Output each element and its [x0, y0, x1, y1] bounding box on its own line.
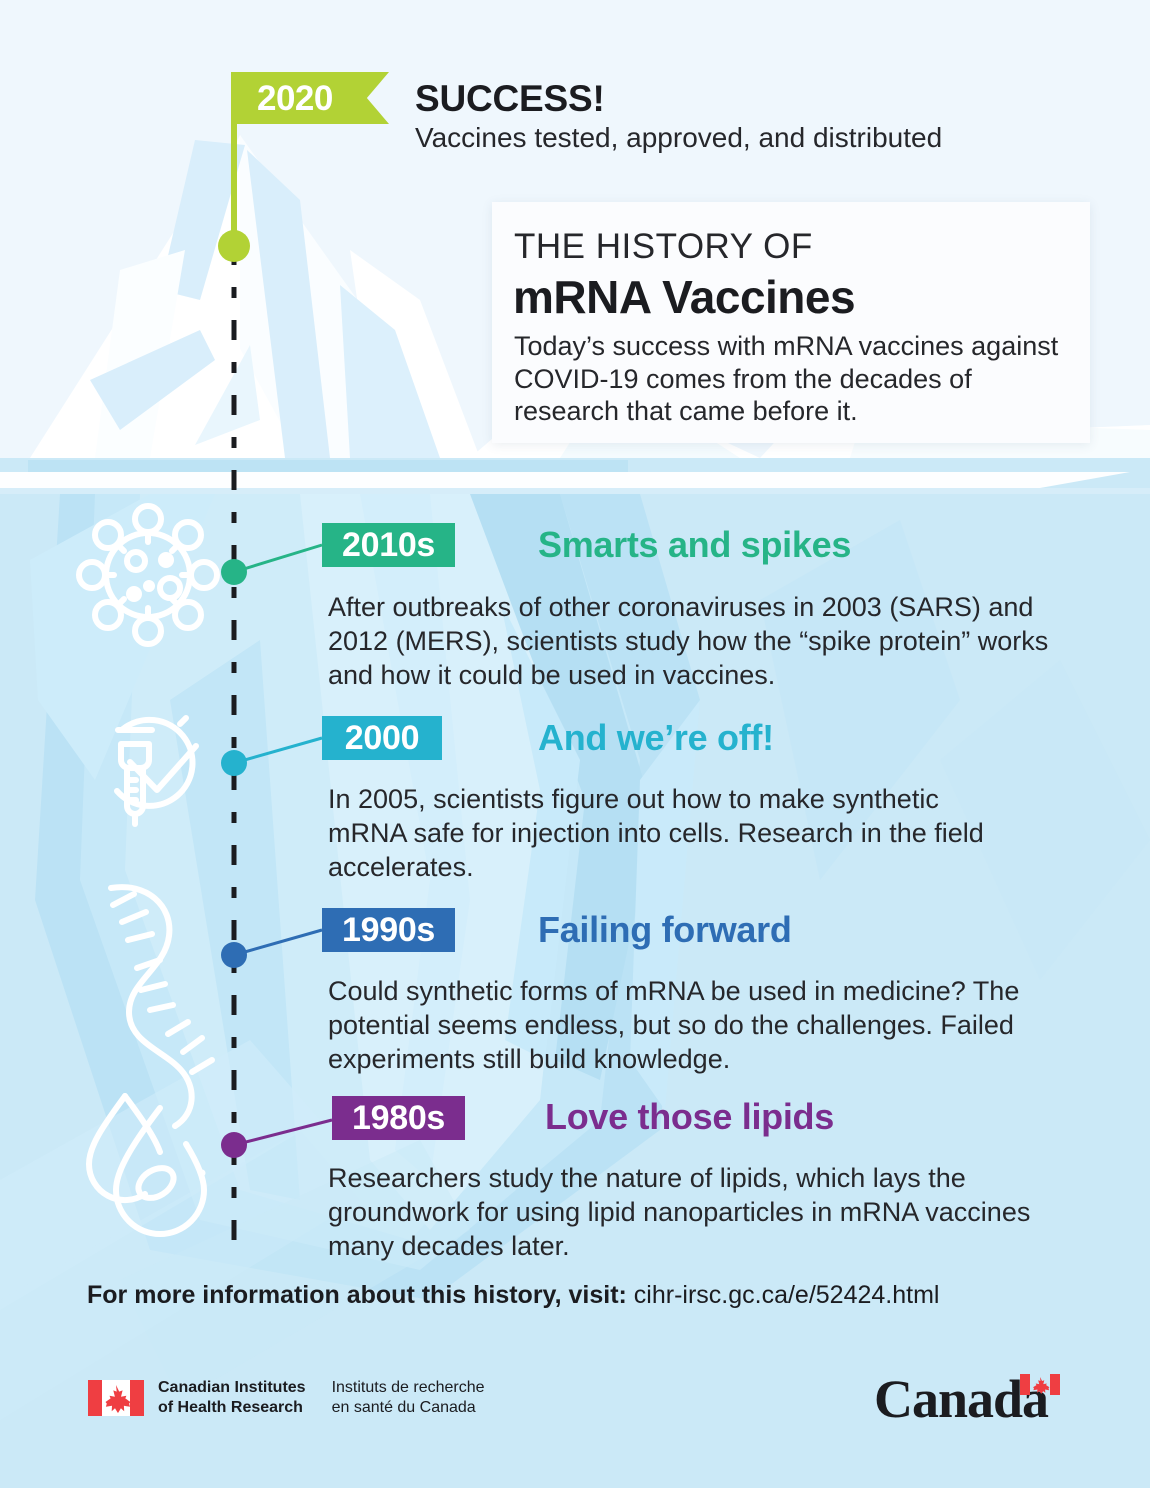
cihr-label-en: Canadian Institutes of Health Research: [158, 1378, 306, 1417]
entry-title-1980s: Love those lipids: [545, 1099, 834, 1135]
timeline-node-2010s[interactable]: [221, 559, 247, 585]
year-badge-1990s[interactable]: 1990s: [322, 908, 455, 952]
canada-wordmark: Canada: [874, 1372, 1048, 1426]
title-card: THE HISTORY OF mRNA Vaccines Today’s suc…: [492, 202, 1090, 443]
timeline-node-1980s[interactable]: [221, 1132, 247, 1158]
waterline-band: [28, 460, 628, 472]
flag-node-dot: [218, 230, 250, 262]
footer-note-label: For more information about this history,…: [87, 1281, 627, 1309]
year-badge-2010s[interactable]: 2010s: [322, 523, 455, 567]
canada-flag-wordmark-icon: [1020, 1374, 1060, 1395]
entry-body-2000: In 2005, scientists figure out how to ma…: [328, 783, 988, 884]
year-badge-label: 1980s: [352, 1101, 445, 1135]
year-badge-2000[interactable]: 2000: [322, 716, 442, 760]
timeline-node-2000[interactable]: [221, 750, 247, 776]
page-title: mRNA Vaccines: [513, 274, 855, 320]
entry-title-1990s: Failing forward: [538, 912, 792, 948]
year-badge-label: 2000: [345, 721, 419, 755]
entry-title-2000: And we’re off!: [538, 720, 774, 756]
title-kicker: THE HISTORY OF: [514, 229, 813, 264]
timeline-node-1990s[interactable]: [221, 942, 247, 968]
flag-year-label: 2020: [231, 81, 333, 116]
water-surface-highlight: [0, 472, 1130, 490]
success-subheading: Vaccines tested, approved, and distribut…: [415, 124, 942, 152]
infographic-canvas: 2020 SUCCESS! Vaccines tested, approved,…: [0, 0, 1150, 1488]
flag-pole: [231, 124, 237, 240]
cihr-logo: Canadian Institutes of Health Research I…: [88, 1378, 485, 1417]
entry-body-1990s: Could synthetic forms of mRNA be used in…: [328, 975, 1088, 1076]
entry-body-1980s: Researchers study the nature of lipids, …: [328, 1162, 1044, 1263]
title-blurb: Today’s success with mRNA vaccines again…: [514, 330, 1070, 428]
year-badge-label: 1990s: [342, 913, 435, 947]
entry-body-2010s: After outbreaks of other coronaviruses i…: [328, 591, 1070, 692]
flag-banner: 2020: [231, 72, 389, 124]
cihr-label-fr: Instituts de recherche en santé du Canad…: [332, 1378, 485, 1417]
footer-url[interactable]: cihr-irsc.gc.ca/e/52424.html: [634, 1281, 940, 1309]
flag-2020: 2020: [231, 72, 389, 124]
entry-title-2010s: Smarts and spikes: [538, 527, 851, 563]
footer-note: For more information about this history,…: [87, 1283, 939, 1308]
year-badge-1980s[interactable]: 1980s: [332, 1096, 465, 1140]
year-badge-label: 2010s: [342, 528, 435, 562]
success-heading: SUCCESS!: [415, 80, 605, 117]
canada-flag-icon: [88, 1380, 144, 1416]
